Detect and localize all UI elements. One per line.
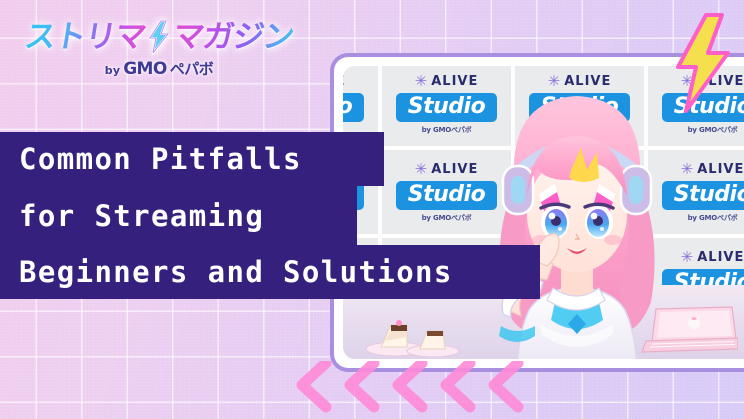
alive-text: ALIVE	[697, 250, 744, 265]
by-gmo-pepabo: by GMOペパボ	[422, 213, 472, 223]
alive-text: ALIVE	[343, 74, 345, 89]
logo-text-part1: ストリマ	[23, 22, 148, 53]
logo-text-part2: マガジン	[171, 22, 296, 53]
by-gmo-pepabo: by GMOペパボ	[688, 125, 738, 135]
chevron-left-icon	[350, 363, 374, 407]
site-logo[interactable]: ストリマ マガジン by GMO ペパボ	[24, 20, 294, 82]
title-band-1: Common Pitfalls	[0, 132, 384, 186]
title-band-2: for Streaming	[0, 186, 357, 245]
chevron-decorations	[296, 361, 546, 413]
alive-logo: ✳ ALIVE	[681, 162, 744, 177]
title-line-2: for Streaming	[0, 199, 264, 233]
title-line-3: Beginners and Solutions	[0, 255, 453, 289]
title-line-1: Common Pitfalls	[0, 142, 302, 176]
vtuber-character-avatar	[471, 74, 681, 359]
alive-text: ALIVE	[697, 162, 744, 177]
chevron-left-icon	[446, 363, 470, 407]
chevron-left-icon	[494, 363, 518, 407]
logo-lightning-bolt-icon	[148, 20, 170, 54]
alive-logo: ✳ ALIVE	[343, 74, 345, 89]
chevron-left-icon	[302, 363, 326, 407]
cake-plate-icon	[365, 311, 461, 357]
alive-logo: ✳ ALIVE	[415, 74, 479, 89]
logo-wordmark: ストリマ マガジン	[24, 20, 294, 54]
title-band-3: Beginners and Solutions	[0, 245, 540, 299]
lightning-bolt-icon	[672, 13, 734, 113]
banner-canvas: ✳ ALIVE Studio by GMOペパボ ✳ ALIVE Studio …	[0, 0, 744, 419]
logo-byline: by GMO ペパボ	[24, 58, 294, 79]
alive-logo: ✳ ALIVE	[681, 250, 744, 265]
logo-gmo-text: GMO	[123, 59, 167, 79]
alive-logo: ✳ ALIVE	[415, 162, 479, 177]
by-gmo-pepabo: by GMOペパボ	[688, 213, 738, 223]
logo-by-text: by	[105, 64, 120, 77]
chevron-left-icon	[398, 363, 422, 407]
studio-text: Studio	[343, 93, 364, 122]
by-gmo-pepabo: by GMOペパボ	[422, 125, 472, 135]
logo-pepabo-text: ペパボ	[170, 58, 214, 79]
